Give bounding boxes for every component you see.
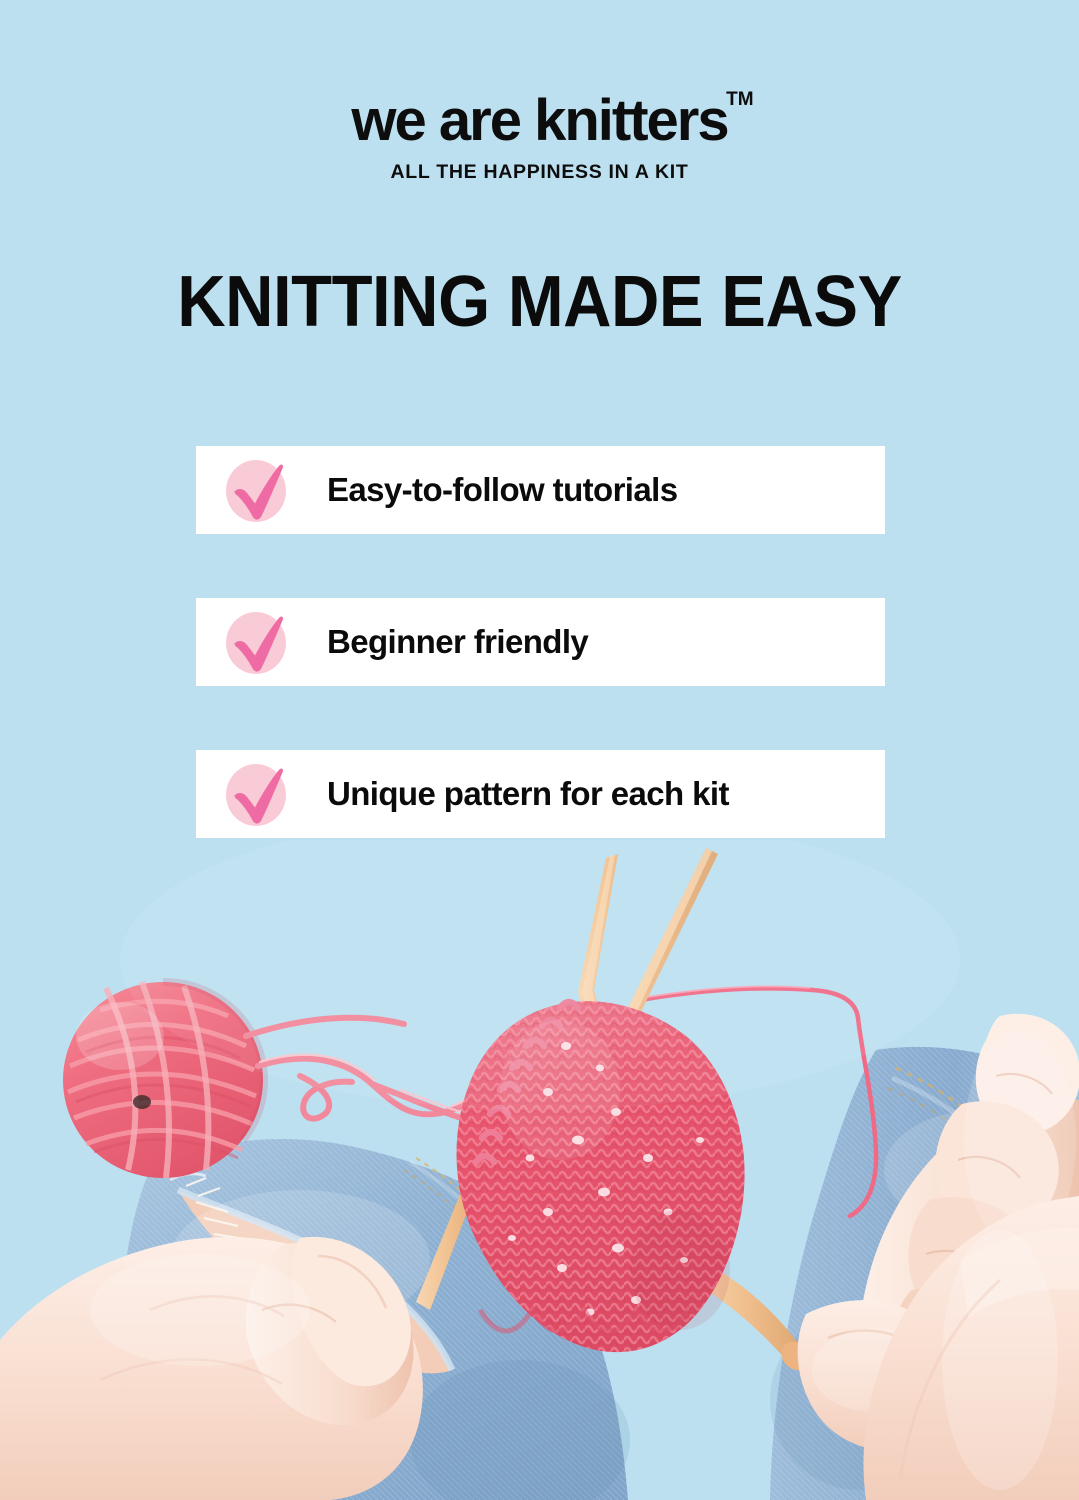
check-icon — [218, 446, 296, 534]
check-mark-shape — [218, 598, 296, 686]
feature-card: Unique pattern for each kit — [196, 750, 885, 838]
trademark-icon: TM — [726, 90, 753, 109]
check-mark-shape — [218, 750, 296, 838]
page-title: KNITTING MADE EASY — [38, 266, 1041, 338]
brand-wordmark-text: we are knitters — [351, 88, 727, 153]
check-icon — [218, 598, 296, 686]
check-icon — [218, 750, 296, 838]
brand-logo: we are knitters TM ALL THE HAPPINESS IN … — [0, 92, 1079, 184]
check-mark-shape — [218, 446, 296, 534]
feature-card: Beginner friendly — [196, 598, 885, 686]
feature-list: Easy-to-follow tutorials Beginner friend… — [196, 446, 885, 902]
feature-label: Easy-to-follow tutorials — [327, 471, 677, 509]
poster: we are knitters TM ALL THE HAPPINESS IN … — [0, 0, 1079, 1500]
brand-wordmark: we are knitters TM — [351, 92, 727, 150]
knitting-photograph — [0, 840, 1079, 1500]
feature-label: Unique pattern for each kit — [327, 775, 729, 813]
feature-card: Easy-to-follow tutorials — [196, 446, 885, 534]
feature-label: Beginner friendly — [327, 623, 588, 661]
brand-tagline: ALL THE HAPPINESS IN A KIT — [0, 161, 1079, 184]
